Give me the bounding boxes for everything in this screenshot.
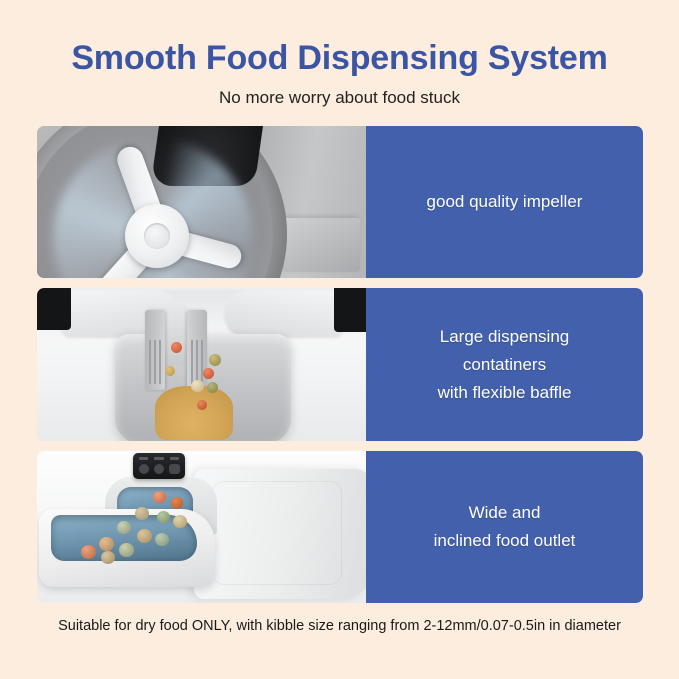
control-button[interactable] [154,464,164,474]
kibble-piece [191,380,204,392]
render-dark-corner-right [334,288,366,332]
feature-caption-panel-impeller: good quality impeller [366,126,643,278]
header: Smooth Food Dispensing System No more wo… [0,0,679,108]
kibble-piece [117,521,131,534]
caption-line: Wide and [434,499,576,527]
kibble-piece [155,533,169,546]
flexible-baffle [149,340,151,384]
caption-line: good quality impeller [427,188,583,216]
feature-row-outlet: Wide and inclined food outlet [37,451,643,603]
flexible-baffle [159,340,161,384]
kibble-piece [207,382,218,393]
blurred-impeller-arm-right [224,290,344,338]
feature-caption-impeller: good quality impeller [427,188,583,216]
container-divider-wall-right [187,310,207,390]
kibble-pile [155,386,233,440]
kibble-piece [203,368,214,379]
control-button[interactable] [139,464,149,474]
caption-line: Large dispensing [438,323,572,351]
control-label [139,457,148,460]
caption-line: with flexible baffle [438,379,572,407]
feature-row-impeller: good quality impeller [37,126,643,278]
footer: Suitable for dry food ONLY, with kibble … [0,616,679,636]
flexible-baffle [191,340,193,384]
feature-caption-outlet: Wide and inclined food outlet [434,499,576,555]
control-label [154,457,164,460]
kibble-piece [99,537,114,551]
feature-photo-impeller [37,126,366,278]
control-panel[interactable] [133,453,185,479]
kibble-piece [135,507,149,520]
feature-caption-containers: Large dispensing contatiners with flexib… [438,323,572,407]
impeller-hub [125,204,189,268]
control-label [170,457,179,460]
kibble-piece [81,545,96,559]
feature-caption-panel-outlet: Wide and inclined food outlet [366,451,643,603]
container-divider-wall-left [145,310,165,390]
kibble-piece [137,529,152,543]
kibble-piece [157,511,170,523]
page-subtitle: No more worry about food stuck [0,78,679,108]
feature-rows: good quality impeller [37,126,643,603]
kibble-piece [173,515,187,528]
caption-line: inclined food outlet [434,527,576,555]
product-infographic: Smooth Food Dispensing System No more wo… [0,0,679,679]
page-title: Smooth Food Dispensing System [0,0,679,78]
feature-row-containers: Large dispensing contatiners with flexib… [37,288,643,441]
feeder-body [194,469,366,599]
flexible-baffle [201,340,203,384]
flexible-baffle [196,340,198,384]
control-button[interactable] [169,464,180,474]
feature-photo-containers [37,288,366,441]
kibble-piece [101,551,115,564]
kibble-piece [197,400,207,410]
hopper-outer-ledge [284,218,360,272]
kibble-piece [153,491,166,503]
feature-caption-panel-containers: Large dispensing contatiners with flexib… [366,288,643,441]
flexible-baffle [154,340,156,384]
kibble-piece [171,342,182,353]
center-column [165,304,187,366]
footer-note: Suitable for dry food ONLY, with kibble … [0,616,679,636]
feeder-body-panel [212,481,342,585]
caption-line: contatiners [438,351,572,379]
kibble-piece [209,354,221,366]
kibble-piece [171,497,183,509]
render-dark-corner-left [37,288,71,330]
kibble-piece [165,366,175,376]
kibble-piece [119,543,134,557]
feature-photo-outlet [37,451,366,603]
